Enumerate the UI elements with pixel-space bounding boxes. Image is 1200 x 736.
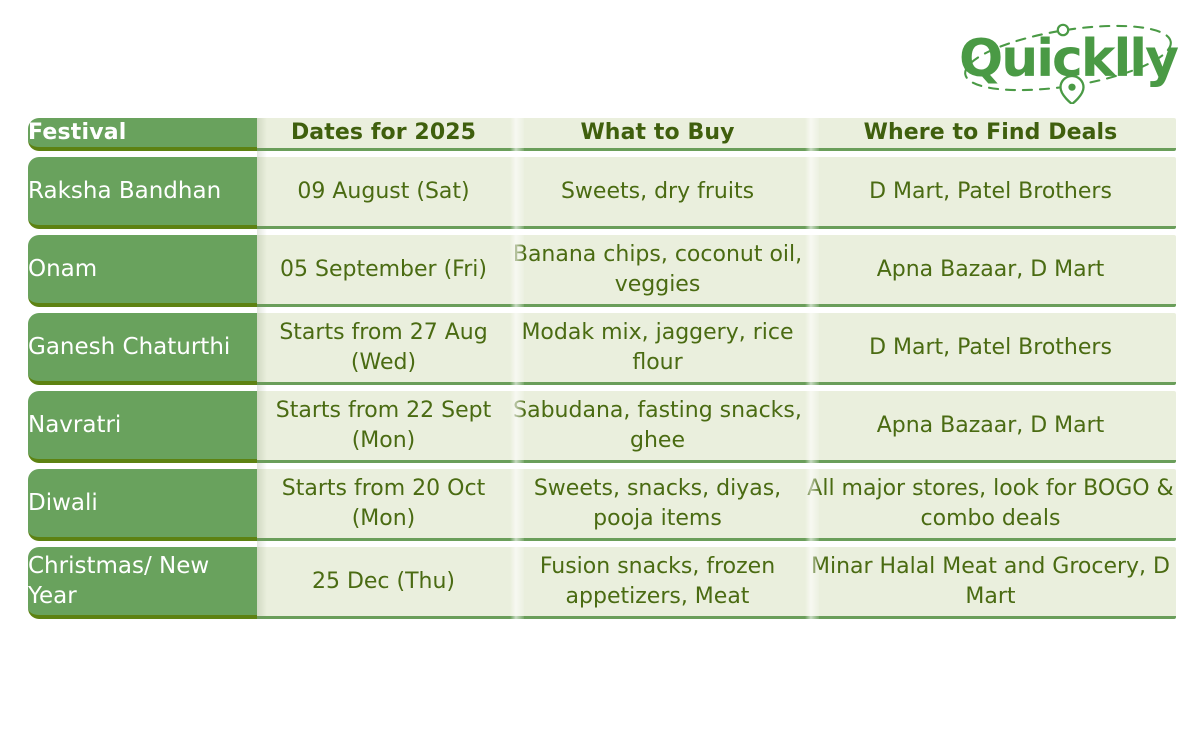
column-header-dates: Dates for 2025: [257, 118, 510, 151]
table-row: Onam 05 September (Fri) Banana chips, co…: [28, 235, 1176, 307]
cell-dates: Starts from 20 Oct (Mon): [257, 469, 510, 541]
table-row: Raksha Bandhan 09 August (Sat) Sweets, d…: [28, 157, 1176, 229]
column-header-deals: Where to Find Deals: [805, 118, 1176, 151]
cell-festival: Raksha Bandhan: [28, 157, 257, 229]
cell-buy: Banana chips, coconut oil, veggies: [510, 235, 805, 307]
cell-dates: Starts from 27 Aug (Wed): [257, 313, 510, 385]
table-row: Navratri Starts from 22 Sept (Mon) Sabud…: [28, 391, 1176, 463]
cell-buy: Sabudana, fasting snacks, ghee: [510, 391, 805, 463]
column-header-buy: What to Buy: [510, 118, 805, 151]
table-row: Diwali Starts from 20 Oct (Mon) Sweets, …: [28, 469, 1176, 541]
cell-deals: All major stores, look for BOGO & combo …: [805, 469, 1176, 541]
table-body: Raksha Bandhan 09 August (Sat) Sweets, d…: [28, 151, 1176, 619]
cell-buy: Fusion snacks, frozen appetizers, Meat: [510, 547, 805, 619]
brand-logo: Quicklly: [950, 8, 1190, 104]
festival-shopping-table: Festival Dates for 2025 What to Buy Wher…: [28, 118, 1176, 619]
cell-dates: 05 September (Fri): [257, 235, 510, 307]
cell-deals: D Mart, Patel Brothers: [805, 157, 1176, 229]
cell-festival: Christmas/ New Year: [28, 547, 257, 619]
cell-festival: Navratri: [28, 391, 257, 463]
table-row: Christmas/ New Year 25 Dec (Thu) Fusion …: [28, 547, 1176, 619]
cell-deals: D Mart, Patel Brothers: [805, 313, 1176, 385]
cell-deals: Apna Bazaar, D Mart: [805, 235, 1176, 307]
quicklly-logo-svg: Quicklly: [950, 8, 1190, 104]
column-header-festival: Festival: [28, 118, 257, 151]
cell-dates: Starts from 22 Sept (Mon): [257, 391, 510, 463]
cell-festival: Onam: [28, 235, 257, 307]
cell-buy: Sweets, snacks, diyas, pooja items: [510, 469, 805, 541]
cell-dates: 09 August (Sat): [257, 157, 510, 229]
cell-deals: Minar Halal Meat and Grocery, D Mart: [805, 547, 1176, 619]
cell-dates: 25 Dec (Thu): [257, 547, 510, 619]
cell-buy: Modak mix, jaggery, rice flour: [510, 313, 805, 385]
cell-deals: Apna Bazaar, D Mart: [805, 391, 1176, 463]
cell-festival: Ganesh Chaturthi: [28, 313, 257, 385]
brand-wordmark: Quicklly: [959, 29, 1178, 89]
cell-buy: Sweets, dry fruits: [510, 157, 805, 229]
cell-festival: Diwali: [28, 469, 257, 541]
table-header-row: Festival Dates for 2025 What to Buy Wher…: [28, 118, 1176, 151]
table-row: Ganesh Chaturthi Starts from 27 Aug (Wed…: [28, 313, 1176, 385]
